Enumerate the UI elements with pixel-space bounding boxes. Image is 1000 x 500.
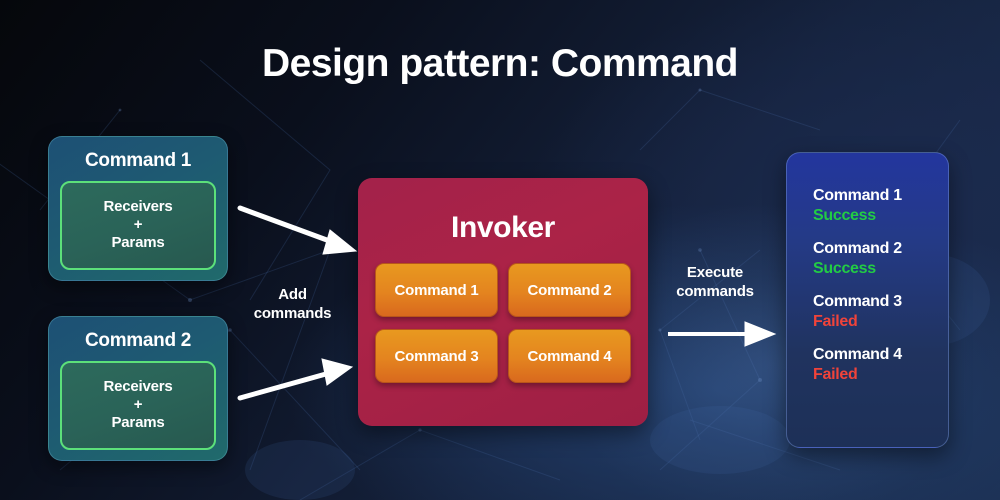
invoker-chip-command-4[interactable]: Command 4 [508, 329, 631, 383]
command-card-1-plus-label: + [134, 217, 143, 234]
invoker-title: Invoker [358, 211, 648, 245]
result-row-3: Command 3 Failed [813, 292, 948, 332]
result-name-4: Command 4 [813, 345, 948, 365]
label-execute-commands-line-2: commands [656, 283, 774, 302]
result-row-2: Command 2 Success [813, 239, 948, 279]
label-add-commands: Add commands [230, 286, 355, 324]
label-add-commands-line-2: commands [230, 305, 355, 324]
page-title: Design pattern: Command [0, 42, 1000, 86]
result-status-2: Success [813, 259, 948, 279]
result-status-1: Success [813, 206, 948, 226]
command-card-2-params-label: Params [111, 415, 164, 432]
label-add-commands-line-1: Add [230, 286, 355, 305]
invoker-chip-command-2[interactable]: Command 2 [508, 263, 631, 317]
result-name-3: Command 3 [813, 292, 948, 312]
command-card-1[interactable]: Command 1 Receivers + Params [48, 136, 228, 281]
diagram-canvas: Design pattern: Command Command 1 Receiv… [0, 0, 1000, 500]
command-card-1-receivers-box: Receivers + Params [60, 181, 216, 270]
result-name-1: Command 1 [813, 186, 948, 206]
command-card-2-plus-label: + [134, 397, 143, 414]
result-row-4: Command 4 Failed [813, 345, 948, 385]
command-card-1-receivers-label: Receivers [103, 199, 172, 216]
command-card-2[interactable]: Command 2 Receivers + Params [48, 316, 228, 461]
command-card-1-params-label: Params [111, 235, 164, 252]
invoker-chip-command-3[interactable]: Command 3 [375, 329, 498, 383]
results-panel[interactable]: Command 1 Success Command 2 Success Comm… [786, 152, 949, 448]
command-card-1-title: Command 1 [60, 150, 216, 172]
invoker-command-grid: Command 1 Command 2 Command 3 Command 4 [358, 263, 648, 383]
label-execute-commands: Execute commands [656, 264, 774, 302]
result-name-2: Command 2 [813, 239, 948, 259]
result-status-4: Failed [813, 365, 948, 385]
result-status-3: Failed [813, 312, 948, 332]
command-card-2-title: Command 2 [60, 330, 216, 352]
invoker-panel[interactable]: Invoker Command 1 Command 2 Command 3 Co… [358, 178, 648, 426]
label-execute-commands-line-1: Execute [656, 264, 774, 283]
command-card-2-receivers-label: Receivers [103, 379, 172, 396]
result-row-1: Command 1 Success [813, 186, 948, 226]
command-card-2-receivers-box: Receivers + Params [60, 361, 216, 450]
invoker-chip-command-1[interactable]: Command 1 [375, 263, 498, 317]
